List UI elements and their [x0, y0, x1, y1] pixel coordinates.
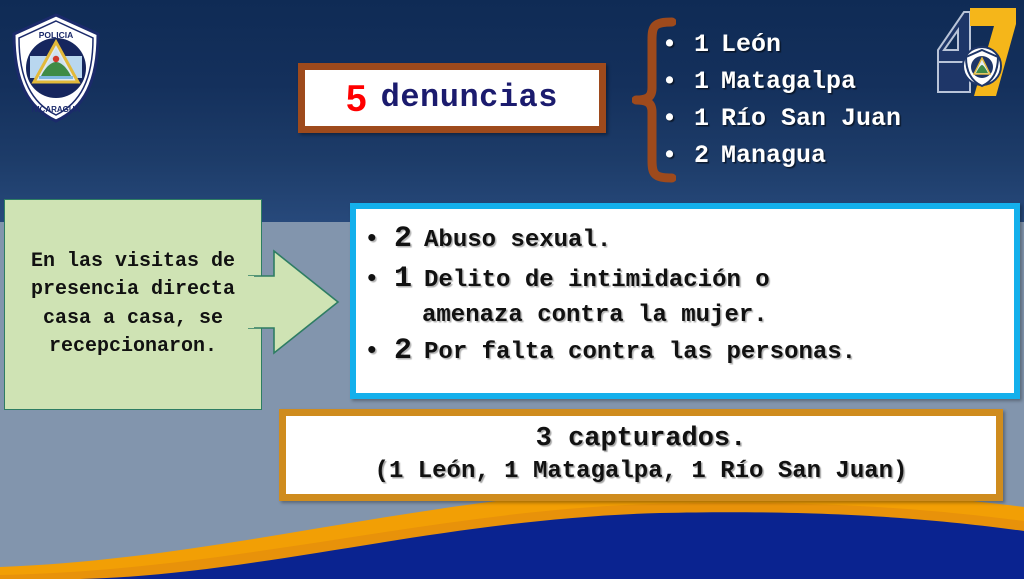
list-item: • 1 Río San Juan: [662, 104, 1022, 141]
offense-list-box: • 2 Abuso sexual. • 1 Delito de intimida…: [350, 203, 1020, 399]
bullet-icon: •: [662, 143, 694, 168]
offense-count: 1: [394, 261, 412, 299]
svg-text:NICARAGUA: NICARAGUA: [32, 105, 81, 114]
bullet-icon: •: [662, 69, 694, 94]
captured-summary-box: 3 capturados. (1 León, 1 Matagalpa, 1 Rí…: [279, 409, 1003, 501]
offense-text-continuation: amenaza contra la mujer.: [364, 300, 1004, 331]
offense-list: • 2 Abuso sexual. • 1 Delito de intimida…: [364, 221, 1004, 371]
denuncias-summary-box: 5 denuncias: [298, 63, 606, 133]
list-item: • 2 Por falta contra las personas.: [364, 333, 1004, 371]
bullet-icon: •: [364, 338, 394, 364]
offense-text: Delito de intimidación o: [424, 265, 770, 296]
denuncias-label: denuncias: [381, 82, 558, 114]
list-item: • 2 Abuso sexual.: [364, 221, 1004, 259]
municipality-name: León: [721, 30, 781, 59]
slide-canvas: POLICIA NICARAGUA 5 denuncias • 1 León •…: [0, 0, 1024, 579]
municipality-count: 2: [694, 141, 709, 170]
municipality-count: 1: [694, 104, 709, 133]
bullet-icon: •: [364, 226, 394, 252]
police-shield-icon: POLICIA NICARAGUA: [8, 12, 104, 124]
list-item: • 1 León: [662, 30, 1022, 67]
municipality-name: Matagalpa: [721, 67, 856, 96]
offense-count: 2: [394, 333, 412, 371]
visits-callout-text: En las visitas de presencia directa casa…: [17, 248, 249, 362]
municipality-list: • 1 León • 1 Matagalpa • 1 Río San Juan …: [662, 30, 1022, 178]
municipality-count: 1: [694, 30, 709, 59]
bullet-icon: •: [662, 106, 694, 131]
denuncias-count: 5: [346, 80, 367, 117]
svg-text:POLICIA: POLICIA: [39, 30, 73, 40]
bullet-icon: •: [364, 266, 394, 292]
municipality-name: Río San Juan: [721, 104, 901, 133]
municipality-count: 1: [694, 67, 709, 96]
list-item: • 1 Delito de intimidación o: [364, 261, 1004, 299]
arrow-right-icon: [248, 249, 340, 355]
visits-callout-box: En las visitas de presencia directa casa…: [4, 199, 262, 410]
offense-text: Abuso sexual.: [424, 225, 611, 256]
list-item: • 2 Managua: [662, 141, 1022, 178]
bullet-icon: •: [662, 32, 694, 57]
municipality-name: Managua: [721, 141, 826, 170]
captured-title: 3 capturados.: [536, 423, 747, 457]
offense-text: Por falta contra las personas.: [424, 337, 856, 368]
offense-count: 2: [394, 221, 412, 259]
captured-breakdown: (1 León, 1 Matagalpa, 1 Río San Juan): [375, 456, 908, 487]
list-item: • 1 Matagalpa: [662, 67, 1022, 104]
